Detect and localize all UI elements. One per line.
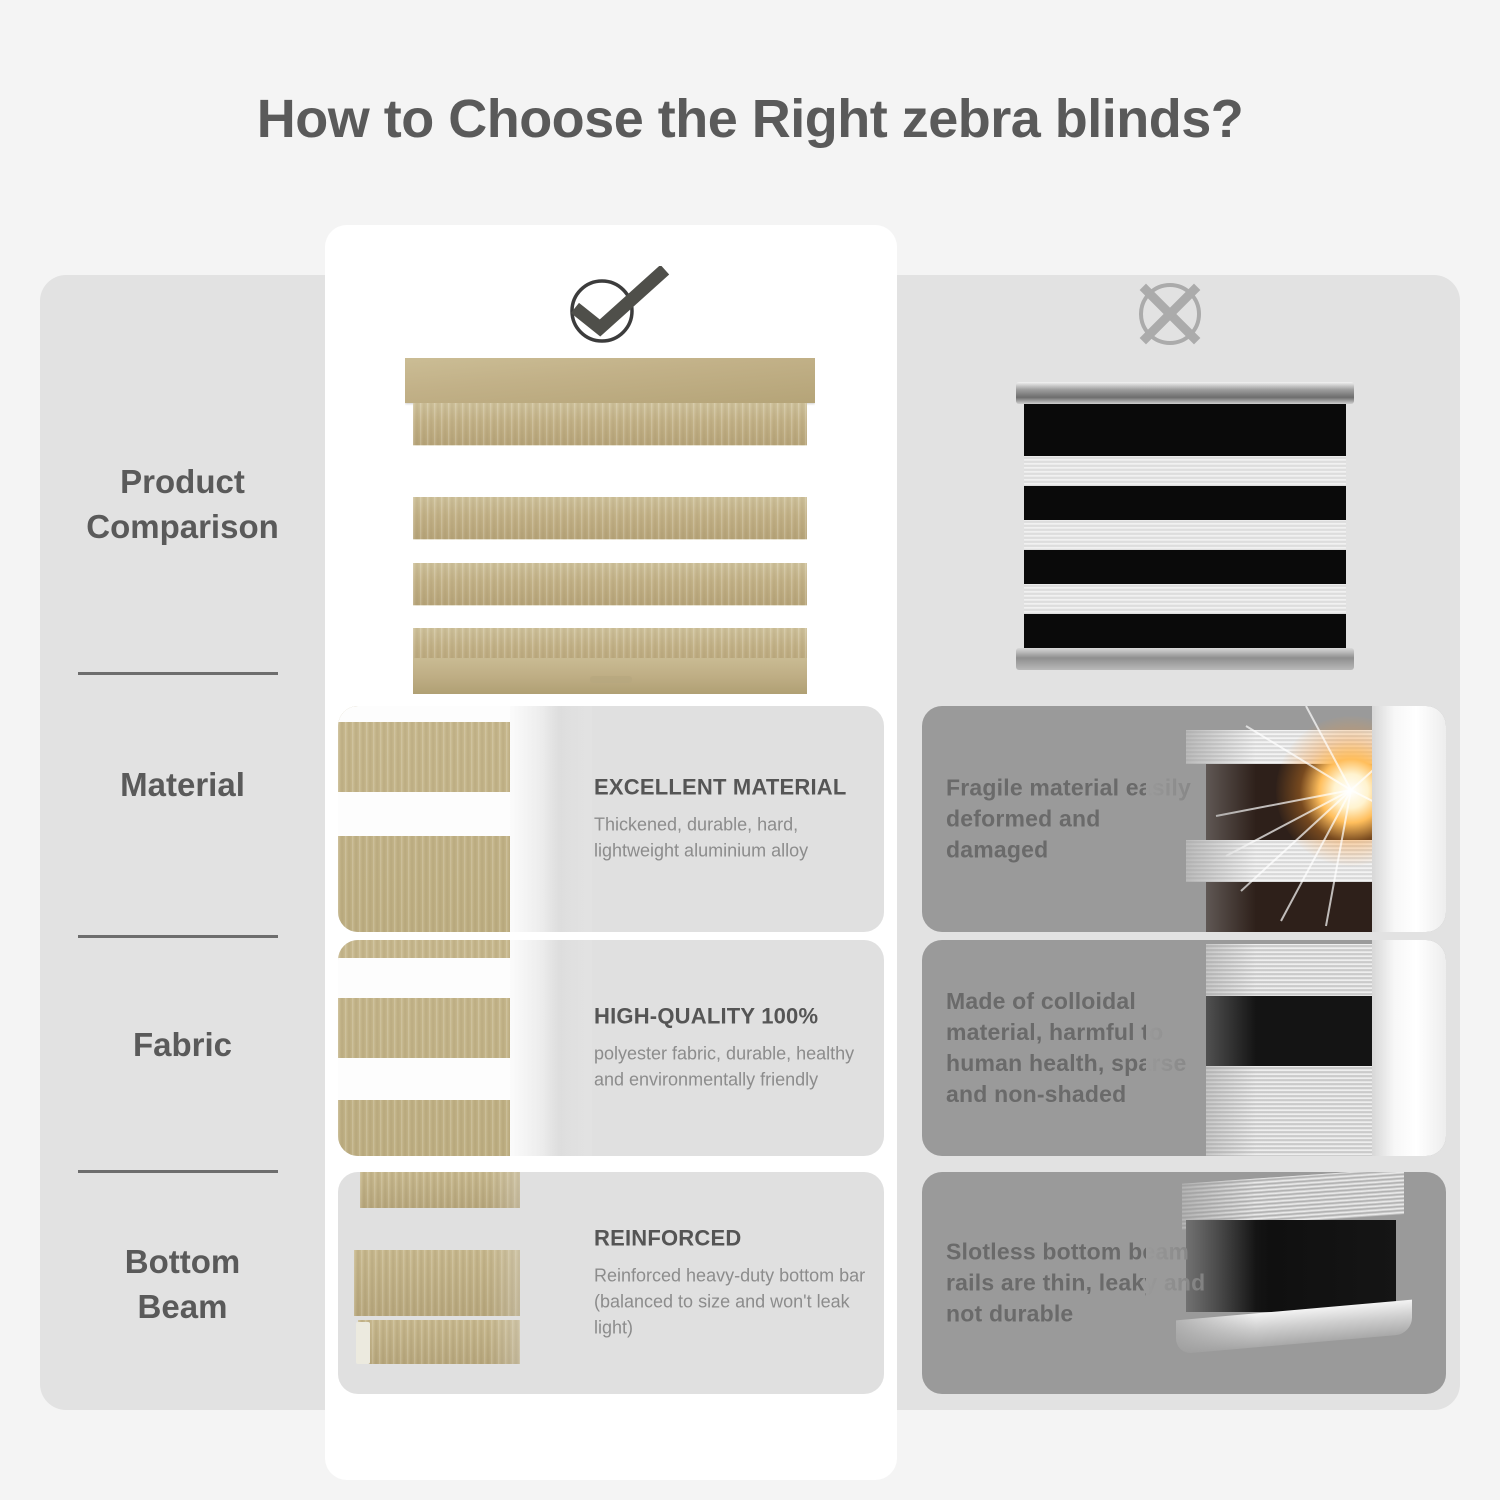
row-label-line-2: Comparison — [86, 505, 279, 550]
window-frame — [1372, 940, 1446, 1156]
sheer-stripe — [1024, 456, 1346, 486]
row-divider-2 — [78, 935, 278, 938]
wood-slat — [413, 497, 807, 540]
good-feature-row-bottom-beam: REINFORCED Reinforced heavy-duty bottom … — [338, 1172, 884, 1394]
bad-product-image — [1010, 378, 1360, 674]
wood-bottom-grip — [590, 676, 632, 683]
good-fabric-photo — [338, 940, 588, 1156]
photo-fade — [1146, 1172, 1256, 1394]
row-label-column: Product Comparison Material Fabric Botto… — [40, 275, 325, 1410]
bad-feature-row-bottom-beam: Slotless bottom beam rails are thin, lea… — [922, 1172, 1446, 1394]
row-label-bottom-beam: Bottom Beam — [40, 1195, 325, 1375]
good-feature-row-material: EXCELLENT MATERIAL Thickened, durable, h… — [338, 706, 884, 932]
good-feature-row-fabric: HIGH-QUALITY 100% polyester fabric, dura… — [338, 940, 884, 1156]
check-circle-icon — [560, 266, 670, 346]
bad-bottom-beam-photo — [1146, 1172, 1446, 1394]
photo-fade — [1146, 706, 1256, 932]
good-bottom-beam-photo — [338, 1172, 588, 1394]
bad-feature-row-fabric: Made of colloidal material, harmful to h… — [922, 940, 1446, 1156]
row-divider-1 — [78, 672, 278, 675]
sheer-stripe — [1024, 520, 1346, 550]
sheer-band — [338, 1058, 516, 1100]
aluminium-head-rail — [1016, 382, 1354, 404]
feature-body: Reinforced heavy-duty bottom bar (balanc… — [594, 1262, 870, 1340]
feature-heading: EXCELLENT MATERIAL — [594, 774, 870, 800]
x-circle-icon — [1120, 278, 1220, 350]
row-divider-3 — [78, 1170, 278, 1173]
sheer-band — [338, 958, 516, 998]
bottom-bar-end-cap — [356, 1322, 370, 1364]
row-label-line-2: Beam — [125, 1285, 240, 1330]
aluminium-bottom-rail — [1016, 648, 1354, 670]
good-fabric-text: HIGH-QUALITY 100% polyester fabric, dura… — [594, 1003, 870, 1092]
bad-fabric-photo — [1146, 940, 1446, 1156]
sheer-band — [338, 706, 516, 722]
page-title: How to Choose the Right zebra blinds? — [0, 88, 1500, 150]
row-label-material: Material — [40, 705, 325, 865]
row-label-line-1: Product — [86, 460, 279, 505]
feature-heading: HIGH-QUALITY 100% — [594, 1003, 870, 1029]
row-label-line-1: Bottom — [125, 1240, 240, 1285]
good-material-photo — [338, 706, 588, 932]
row-label-fabric: Fabric — [40, 965, 325, 1125]
wood-headrail — [405, 358, 815, 403]
bad-material-photo — [1146, 706, 1446, 932]
sheer-band — [338, 792, 516, 836]
row-label-product-comparison: Product Comparison — [40, 415, 325, 595]
sheer-stripe — [1024, 584, 1346, 614]
black-fabric-body — [1024, 404, 1346, 648]
photo-fade — [488, 1172, 598, 1394]
good-bottom-beam-text: REINFORCED Reinforced heavy-duty bottom … — [594, 1225, 870, 1340]
good-material-text: EXCELLENT MATERIAL Thickened, durable, h… — [594, 774, 870, 863]
feature-body: polyester fabric, durable, healthy and e… — [594, 1040, 870, 1092]
photo-fade — [1146, 940, 1256, 1156]
feature-body: Thickened, durable, hard, lightweight al… — [594, 811, 870, 863]
wood-slat — [413, 563, 807, 606]
window-frame — [1372, 706, 1446, 932]
good-product-image — [405, 358, 815, 698]
feature-heading: REINFORCED — [594, 1225, 870, 1251]
bad-feature-row-material: Fragile material easily deformed and dam… — [922, 706, 1446, 932]
wood-slat — [413, 403, 807, 446]
